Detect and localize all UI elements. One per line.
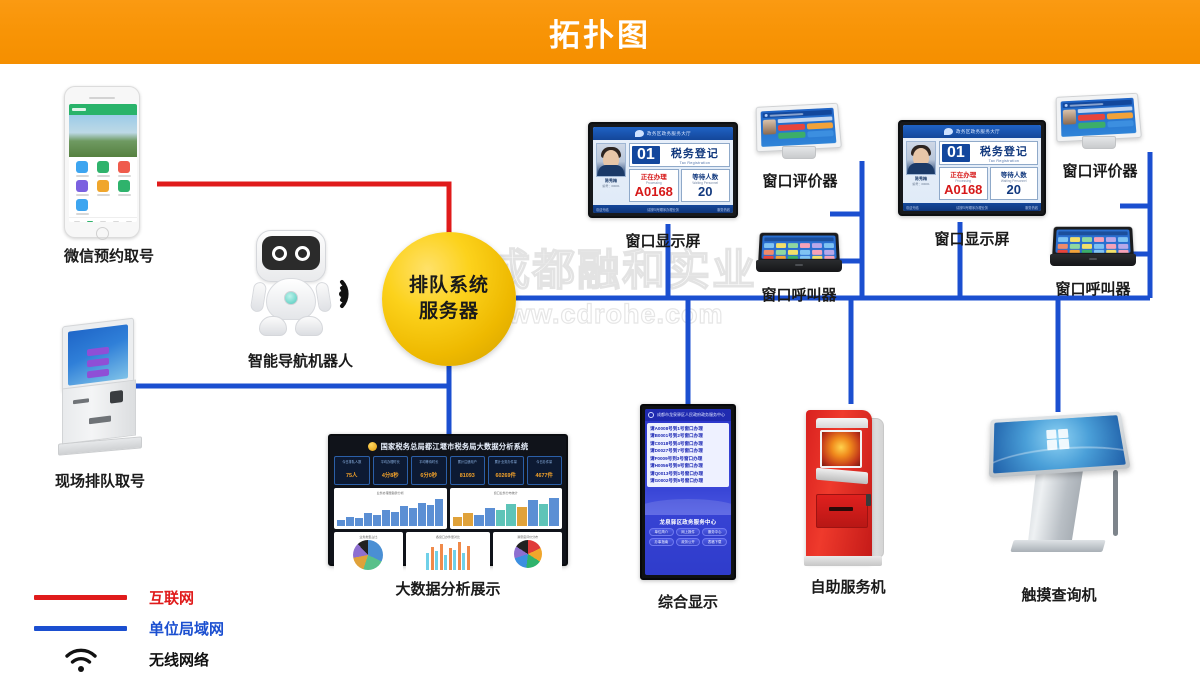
caller-key[interactable] — [1094, 237, 1104, 242]
legend-swatch-internet — [34, 595, 127, 600]
node-label-wechat: 微信预约取号 — [64, 245, 154, 266]
footer-left-text: 欢迎光临 — [906, 205, 919, 210]
caller-key[interactable] — [800, 256, 811, 259]
caller-key[interactable] — [812, 249, 823, 254]
comprehensive-decor-band — [645, 489, 731, 515]
legend-row-lan: 单位局域网 — [34, 613, 224, 644]
staff-portrait — [596, 143, 626, 177]
machine-body — [806, 410, 872, 562]
type-ratio-donut-chart — [353, 540, 383, 570]
node-label-comprehensive: 综合显示 — [640, 591, 736, 612]
kpi-value: 75人 — [346, 473, 357, 479]
caller-key[interactable] — [1082, 237, 1092, 242]
caller-key[interactable] — [1058, 237, 1069, 242]
robot-head — [256, 230, 326, 282]
evaluator-staff-photo — [1063, 109, 1076, 124]
robot-device[interactable] — [248, 230, 334, 340]
kpi-card: 今日办件量 4677件 — [527, 456, 563, 485]
node-bigdata-dashboard[interactable]: 国家税务总局都江堰市税务局大数据分析系统 今日排队人数 75人 平均办理时长 4… — [328, 434, 568, 599]
evaluator-stand — [1082, 136, 1116, 149]
phone-app-icon — [73, 199, 91, 215]
machine-card-reader — [866, 494, 871, 506]
service-name-cn: 税务登记 — [663, 145, 727, 161]
legend-label-lan: 单位局域网 — [149, 618, 224, 639]
bigdata-display-device[interactable]: 国家税务总局都江堰市税务局大数据分析系统 今日排队人数 75人 平均办理时长 4… — [328, 434, 568, 566]
ticket-kiosk-device[interactable] — [48, 322, 152, 458]
window-display-body: 陈秀梅 编号：00001 01 税务登记 Tax Registration — [903, 138, 1041, 203]
kpi-label: 今日办件量 — [528, 459, 562, 464]
robot-eye-right — [295, 246, 310, 261]
phone-app-grid — [69, 157, 137, 217]
waiting-count: 20 — [991, 183, 1038, 197]
wifi-icon — [63, 646, 99, 674]
wave-decoration — [645, 499, 731, 515]
queue-call-list: 请A0008号到1号窗口办理 请B0001号到2号窗口办理 请C0018号到4号… — [647, 423, 729, 487]
chart-title: 各窗口办件量对比 — [409, 535, 487, 539]
page-title: 拓扑图 — [549, 10, 651, 55]
phone-tab — [74, 221, 80, 222]
robot-foot-right — [295, 316, 323, 336]
phone-app-icon — [94, 180, 112, 196]
window-display-header: 政务区政务服务大厅 — [903, 125, 1041, 138]
distribution-chart-panel: 窗口业务分布统计 — [450, 488, 563, 529]
node-self-service-machine[interactable]: 自助服务机 — [800, 404, 896, 597]
kpi-card: 今日排队人数 75人 — [334, 456, 370, 485]
evaluator-screen[interactable] — [756, 103, 842, 153]
dashboard-chart-row-1: 业务办理量趋势分析 窗口业务分布统计 — [334, 488, 562, 529]
evaluator-device[interactable] — [1056, 94, 1144, 152]
smartphone-device[interactable] — [64, 86, 140, 238]
caller-display — [1055, 230, 1130, 253]
caller-keypad — [1057, 237, 1128, 253]
comprehensive-menu-button[interactable]: 办事指南 — [649, 538, 674, 546]
caller-key[interactable] — [1118, 243, 1129, 248]
queue-system-server[interactable]: 排队系统 服务器 — [382, 232, 516, 366]
caller-key[interactable] — [800, 249, 811, 254]
legend-label-internet: 互联网 — [149, 587, 194, 608]
status-row: 正在办理 Processing A0168 等待人数 Waiting Perso… — [939, 167, 1038, 200]
counter-number: 01 — [632, 146, 660, 164]
hall-logo-icon — [944, 128, 953, 135]
node-label-selfservice: 自助服务机 — [800, 576, 896, 597]
kiosk-display — [68, 324, 128, 385]
processing-label-cn: 正在办理 — [630, 171, 678, 181]
node-label-bigdata: 大数据分析展示 — [328, 578, 568, 599]
staff-photo-block: 陈秀梅 编号：00001 — [596, 143, 626, 202]
caller-key[interactable] — [823, 243, 834, 248]
staff-id: 编号：00001 — [596, 184, 626, 188]
phone-app-icon — [73, 161, 91, 177]
caller-base — [1050, 254, 1136, 266]
caller-indicator — [795, 264, 803, 266]
node-onsite-ticket-kiosk[interactable]: 现场排队取号 — [48, 322, 152, 491]
service-name-en: Tax Registration — [973, 159, 1035, 163]
caller-indicator — [1089, 258, 1097, 260]
node-label-caller-left: 窗口呼叫器 — [756, 284, 842, 305]
center-name: 成都市龙泉驿区人民政府政务服务中心 — [657, 412, 725, 418]
comprehensive-header: 成都市龙泉驿区人民政府政务服务中心 — [645, 409, 731, 421]
counter-row: 01 税务登记 Tax Registration — [629, 143, 730, 167]
service-name-block: 税务登记 Tax Registration — [973, 143, 1035, 163]
window-display-info: 01 税务登记 Tax Registration 正在办理 Processing… — [939, 141, 1038, 200]
node-caller-left[interactable]: 窗口呼叫器 — [756, 232, 842, 305]
window-display-header: 政务区政务服务大厅 — [593, 127, 733, 140]
phone-screen — [69, 104, 137, 222]
window-display-screen: 政务区政务服务大厅 陈秀梅 编号：00001 01 — [903, 125, 1041, 211]
robot-eye-left — [272, 246, 287, 261]
machine-keyboard-shelf — [816, 468, 868, 485]
rating-button[interactable] — [1107, 120, 1134, 127]
rating-button[interactable] — [1106, 112, 1133, 119]
waiting-cell: 等待人数 Waiting Personnel 20 — [681, 169, 731, 202]
caller-key[interactable] — [812, 256, 823, 259]
center-logo-icon — [648, 412, 654, 418]
node-label-onsite-kiosk: 现场排队取号 — [48, 470, 152, 491]
service-name-block: 税务登记 Tax Registration — [663, 145, 727, 165]
tax-bureau-logo-icon — [368, 442, 377, 451]
window-display-device[interactable]: 政务区政务服务大厅 陈秀梅 编号：00001 01 — [898, 120, 1046, 216]
evaluator-buttons — [1078, 106, 1134, 131]
caller-base — [756, 260, 842, 272]
kpi-value: 81093 — [460, 473, 475, 479]
chart-title: 业务办理量趋势分析 — [337, 491, 444, 495]
kpi-card: 平均等待时长 6分0秒 — [411, 456, 447, 485]
queue-call-item: 请F0009号到3号窗口办理 — [650, 455, 726, 462]
phone-banner-image — [69, 115, 137, 157]
phone-tab — [113, 221, 119, 222]
kpi-card: 平均办理时长 4分8秒 — [373, 456, 409, 485]
phone-app-icon — [73, 180, 91, 196]
caller-key[interactable] — [764, 249, 775, 254]
counter-row: 01 税务登记 Tax Registration — [939, 141, 1038, 165]
rating-button[interactable] — [778, 124, 805, 131]
node-evaluator-left[interactable]: 窗口评价器 — [756, 104, 844, 191]
caller-key[interactable] — [1070, 243, 1081, 248]
service-name-cn: 税务登记 — [973, 143, 1035, 159]
current-ticket: A0168 — [630, 185, 678, 199]
phone-app-bar — [69, 104, 137, 115]
kiosk-column-groove — [1113, 470, 1118, 536]
window-display-device[interactable]: 政务区政务服务大厅 陈秀梅 编号：00001 01 — [588, 122, 738, 218]
robot-arm-right — [315, 281, 333, 313]
caller-title-bar — [1058, 231, 1127, 235]
rating-button[interactable] — [806, 122, 833, 129]
caller-key[interactable] — [788, 256, 799, 259]
caller-key[interactable] — [1082, 243, 1093, 248]
rating-button[interactable] — [1078, 114, 1105, 121]
counter-compare-chart — [409, 540, 487, 570]
caller-key[interactable] — [1069, 250, 1080, 253]
legend-swatch-wireless — [34, 657, 127, 662]
comprehensive-display-device[interactable]: 成都市龙泉驿区人民政府政务服务中心 请A0008号到1号窗口办理 请B0001号… — [640, 404, 736, 580]
caller-screen[interactable] — [758, 233, 840, 262]
current-ticket: A0168 — [940, 183, 987, 197]
waiting-label-cn: 等待人数 — [991, 169, 1038, 179]
evaluator-stand — [782, 146, 816, 159]
kpi-label: 平均办理时长 — [374, 459, 408, 464]
caller-key[interactable] — [775, 256, 786, 259]
caller-key[interactable] — [776, 249, 787, 254]
kpi-card: 累计业务办件量 60269件 — [488, 456, 524, 485]
comprehensive-subtitle: 龙泉驿区政务服务中心 — [645, 515, 731, 528]
queue-call-item: 请D0027号到7号窗口办理 — [650, 447, 726, 454]
type-ratio-panel: 业务类型占比 — [334, 532, 403, 573]
caller-key[interactable] — [1117, 237, 1128, 242]
queue-call-item: 请A0008号到1号窗口办理 — [650, 425, 726, 432]
server-label-line1: 排队系统 — [409, 273, 489, 299]
legend-swatch-lan — [34, 626, 127, 631]
caller-key[interactable] — [1058, 243, 1069, 248]
chart-title: 满意度评价分布 — [496, 535, 559, 539]
caller-key[interactable] — [763, 256, 774, 259]
machine-base — [804, 556, 882, 566]
status-row: 正在办理 Processing A0168 等待人数 Waiting Perso… — [629, 169, 730, 202]
kpi-value: 6分0秒 — [420, 473, 437, 479]
evaluator-buttons — [778, 116, 834, 141]
caller-key[interactable] — [1106, 250, 1117, 253]
window-display-footer: 欢迎光临 请按叫号顺序办理业务 服务热线 — [593, 205, 733, 213]
footer-mid-text: 请按叫号顺序办理业务 — [647, 207, 679, 212]
queue-call-item: 请C0018号到4号窗口办理 — [650, 440, 726, 447]
legend-row-internet: 互联网 — [34, 582, 224, 613]
button-label: 政务公开 — [681, 539, 695, 544]
node-label-caller-right: 窗口呼叫器 — [1050, 278, 1136, 299]
caller-key[interactable] — [776, 243, 787, 248]
self-service-device[interactable] — [800, 404, 896, 572]
server-label-line2: 服务器 — [419, 299, 479, 325]
kpi-label: 平均等待时长 — [412, 459, 446, 464]
windows-logo-icon — [1046, 428, 1069, 450]
staff-portrait — [906, 141, 936, 175]
kpi-label: 累计业务办件量 — [489, 459, 523, 464]
kiosk-body — [62, 379, 136, 444]
caller-title-bar — [764, 237, 833, 241]
trend-chart-panel: 业务办理量趋势分析 — [334, 488, 447, 529]
phone-app-icon — [115, 180, 133, 196]
caller-key[interactable] — [1082, 250, 1093, 253]
staff-photo-block: 陈秀梅 编号：00001 — [906, 141, 936, 200]
caller-device[interactable] — [756, 232, 842, 274]
trend-chart — [337, 496, 444, 526]
robot-chest-light — [284, 291, 298, 305]
phone-tab-bar — [69, 217, 137, 222]
hall-logo-icon — [635, 130, 644, 137]
phone-tab — [126, 221, 132, 222]
button-label: 单位简介 — [655, 529, 669, 534]
node-caller-right[interactable]: 窗口呼叫器 — [1050, 226, 1136, 299]
kpi-label: 累计注册用户 — [451, 459, 485, 464]
rating-button[interactable] — [778, 132, 805, 139]
caller-key[interactable] — [788, 243, 798, 248]
robot-arm-left — [250, 281, 268, 313]
phone-app-icon — [115, 161, 133, 177]
caller-key[interactable] — [1118, 250, 1129, 253]
link-internet-wechat — [157, 184, 449, 236]
phone-home-button[interactable] — [96, 227, 109, 240]
button-label: 网上报件 — [681, 529, 695, 534]
comprehensive-button-grid: 单位简介 网上报件 服务中心 办事指南 政务公开 表格下载 — [645, 528, 731, 550]
comprehensive-menu-button[interactable]: 单位简介 — [649, 528, 674, 536]
dashboard-chart-row-2: 业务类型占比 各窗口办件量对比 满意度评价分布 — [334, 532, 562, 573]
touch-display — [993, 415, 1126, 473]
counter-compare-panel: 各窗口办件量对比 — [406, 532, 490, 573]
rating-button[interactable] — [1078, 122, 1105, 129]
comprehensive-menu-button[interactable]: 服务中心 — [702, 528, 727, 536]
touch-kiosk-device[interactable] — [984, 412, 1134, 568]
processing-label-cn: 正在办理 — [940, 169, 987, 179]
caller-key[interactable] — [1106, 243, 1117, 248]
queue-call-item: 请G0002号到5号窗口办理 — [650, 477, 726, 484]
caller-key[interactable] — [800, 243, 810, 248]
dashboard-header: 国家税务总局都江堰市税务局大数据分析系统 — [334, 440, 562, 453]
caller-key[interactable] — [1057, 250, 1068, 253]
kpi-value: 4677件 — [536, 473, 553, 479]
kpi-card: 累计注册用户 81093 — [450, 456, 486, 485]
caller-key[interactable] — [788, 249, 799, 254]
evaluator-display — [761, 108, 837, 147]
caller-key[interactable] — [1094, 243, 1105, 248]
caller-display — [761, 236, 836, 259]
counter-number: 01 — [942, 144, 970, 162]
kiosk-foot-base — [1010, 540, 1105, 552]
node-label-window-display-left: 窗口显示屏 — [588, 230, 738, 251]
node-comprehensive-display[interactable]: 成都市龙泉驿区人民政府政务服务中心 请A0008号到1号窗口办理 请B0001号… — [640, 404, 736, 612]
waiting-count: 20 — [682, 185, 730, 199]
node-window-display-right[interactable]: 政务区政务服务大厅 陈秀梅 编号：00001 01 — [898, 120, 1046, 249]
caller-key[interactable] — [824, 256, 835, 259]
topology-canvas: 成都融和实业 www.cdrohe.com 排队系统 服务器 — [0, 64, 1200, 621]
node-label-evaluator-right: 窗口评价器 — [1056, 160, 1144, 181]
node-wechat-booking[interactable]: 微信预约取号 — [64, 86, 154, 266]
button-label: 办事指南 — [655, 539, 669, 544]
satisfaction-pie-chart — [514, 540, 542, 568]
comprehensive-menu-button[interactable]: 表格下载 — [702, 538, 727, 546]
chart-title: 窗口业务分布统计 — [453, 491, 560, 495]
evaluator-body — [763, 116, 834, 141]
phone-app-icon — [94, 161, 112, 177]
caller-key[interactable] — [1094, 250, 1105, 253]
dashboard-kpi-row: 今日排队人数 75人 平均办理时长 4分8秒 平均等待时长 6分0秒 累计注册用… — [334, 456, 562, 485]
dashboard-title: 国家税务总局都江堰市税务局大数据分析系统 — [381, 442, 529, 452]
kpi-label: 今日排队人数 — [335, 459, 369, 464]
kiosk-card-slot — [73, 398, 89, 404]
comprehensive-menu-button[interactable]: 政务公开 — [676, 538, 701, 546]
node-evaluator-right[interactable]: 窗口评价器 — [1056, 94, 1144, 181]
kiosk-ticket-outlet — [89, 416, 111, 425]
machine-top-header — [816, 418, 868, 428]
window-display-screen: 政务区政务服务大厅 陈秀梅 编号：00001 01 — [593, 127, 733, 213]
waiting-cell: 等待人数 Waiting Personnel 20 — [990, 167, 1039, 200]
window-display-body: 陈秀梅 编号：00001 01 税务登记 Tax Registration — [593, 140, 733, 205]
kpi-value: 4分8秒 — [382, 473, 399, 479]
caller-key[interactable] — [764, 243, 775, 248]
hall-name: 政务区政务服务大厅 — [956, 129, 1000, 135]
touch-screen[interactable] — [989, 412, 1131, 478]
node-window-display-left[interactable]: 政务区政务服务大厅 陈秀梅 编号：00001 01 — [588, 122, 738, 251]
node-label-touch: 触摸查询机 — [984, 584, 1134, 605]
hall-name: 政务区政务服务大厅 — [647, 131, 691, 137]
evaluator-display — [1061, 98, 1137, 137]
kiosk-scanner — [110, 390, 123, 404]
waiting-label-cn: 等待人数 — [682, 171, 730, 181]
footer-right-text: 服务热线 — [1025, 205, 1038, 210]
wifi-signal-icon — [334, 274, 374, 314]
processing-cell: 正在办理 Processing A0168 — [939, 167, 988, 200]
service-name-en: Tax Registration — [663, 161, 727, 165]
footer-mid-text: 请按叫号顺序办理业务 — [956, 205, 988, 210]
robot-foot-left — [259, 316, 287, 336]
caller-key[interactable] — [1070, 237, 1081, 242]
distribution-chart — [453, 496, 560, 526]
rating-button[interactable] — [807, 130, 834, 137]
phone-tab — [100, 221, 106, 222]
footer-left-text: 欢迎光临 — [596, 207, 609, 212]
staff-id: 编号：00001 — [906, 182, 936, 186]
page-header: 拓扑图 — [0, 0, 1200, 64]
window-display-footer: 欢迎光临 请按叫号顺序办理业务 服务热线 — [903, 203, 1041, 211]
caller-key[interactable] — [824, 249, 835, 254]
kpi-value: 60269件 — [496, 473, 516, 479]
machine-receipt-slot — [829, 507, 853, 511]
satisfaction-panel: 满意度评价分布 — [493, 532, 562, 573]
processing-cell: 正在办理 Processing A0168 — [629, 169, 679, 202]
legend-row-wireless: 无线网络 — [34, 644, 224, 675]
evaluator-device[interactable] — [756, 104, 844, 162]
queue-call-item: 请B0001号到2号窗口办理 — [650, 432, 726, 439]
kiosk-column — [1028, 464, 1084, 542]
robot-face — [262, 236, 320, 270]
caller-key[interactable] — [1106, 237, 1117, 242]
button-label: 表格下载 — [708, 539, 722, 544]
phone-earpiece — [89, 97, 115, 99]
machine-display — [822, 432, 860, 466]
robot-body — [266, 278, 316, 320]
node-label-evaluator-left: 窗口评价器 — [756, 170, 844, 191]
machine-screen[interactable] — [820, 430, 862, 468]
comprehensive-menu-button[interactable]: 网上报件 — [676, 528, 701, 536]
node-touch-inquiry-kiosk[interactable]: 触摸查询机 — [984, 412, 1134, 605]
button-label: 服务中心 — [708, 529, 722, 534]
evaluator-screen[interactable] — [1056, 93, 1142, 143]
node-label-window-display-right: 窗口显示屏 — [898, 228, 1046, 249]
legend-label-wireless: 无线网络 — [149, 649, 209, 670]
machine-lower-panel — [816, 494, 868, 528]
legend: 互联网 单位局域网 无线网络 — [34, 582, 224, 675]
caller-device[interactable] — [1050, 226, 1136, 268]
caller-keypad — [763, 243, 834, 259]
evaluator-staff-photo — [763, 119, 776, 134]
footer-right-text: 服务热线 — [717, 207, 730, 212]
window-display-info: 01 税务登记 Tax Registration 正在办理 Processing… — [629, 143, 730, 202]
chart-title: 业务类型占比 — [337, 535, 400, 539]
queue-call-item: 请Q0013号到1号窗口办理 — [650, 470, 726, 477]
caller-key[interactable] — [812, 243, 823, 248]
phone-tab — [87, 221, 93, 222]
queue-call-item: 请H0056号到9号窗口办理 — [650, 462, 726, 469]
evaluator-body — [1063, 106, 1134, 131]
comprehensive-screen: 成都市龙泉驿区人民政府政务服务中心 请A0008号到1号窗口办理 请B0001号… — [645, 409, 731, 575]
node-label-robot: 智能导航机器人 — [248, 350, 353, 371]
caller-screen[interactable] — [1052, 227, 1134, 256]
